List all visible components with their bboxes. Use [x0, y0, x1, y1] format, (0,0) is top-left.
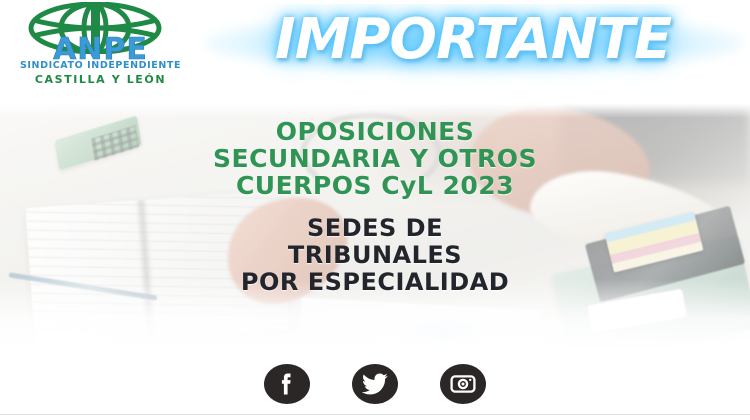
banner-text-block: OPOSICIONES SECUNDARIA Y OTROS CUERPOS C…	[0, 104, 750, 296]
banner-hero: OPOSICIONES SECUNDARIA Y OTROS CUERPOS C…	[0, 104, 750, 349]
anpe-logo[interactable]: ANPE SINDICATO INDEPENDIENTE CASTILLA Y …	[8, 2, 193, 94]
headline-green-line-2: SECUNDARIA Y OTROS	[0, 145, 750, 172]
social-link-facebook[interactable]	[264, 364, 310, 404]
headline-dark: SEDES DE TRIBUNALES POR ESPECIALIDAD	[0, 215, 750, 296]
poster-page: ANPE SINDICATO INDEPENDIENTE CASTILLA Y …	[0, 0, 750, 420]
headline-dark-line-3: POR ESPECIALIDAD	[0, 269, 750, 296]
title-text: IMPORTANTE	[196, 10, 750, 70]
instagram-camera-icon	[450, 373, 476, 395]
social-links	[0, 364, 750, 404]
logo-tagline: SINDICATO INDEPENDIENTE	[8, 61, 193, 71]
logo-region: CASTILLA Y LEÓN	[8, 74, 193, 85]
headline-dark-line-1: SEDES DE	[0, 215, 750, 242]
headline-dark-line-2: TRIBUNALES	[0, 242, 750, 269]
social-link-instagram[interactable]	[440, 364, 486, 404]
header-band: ANPE SINDICATO INDEPENDIENTE CASTILLA Y …	[0, 0, 750, 104]
footer-divider	[0, 414, 750, 415]
facebook-icon	[276, 372, 298, 396]
headline-green-line-1: OPOSICIONES	[0, 118, 750, 145]
page-title: IMPORTANTE	[196, 4, 750, 90]
headline-green: OPOSICIONES SECUNDARIA Y OTROS CUERPOS C…	[0, 118, 750, 199]
twitter-icon	[362, 373, 388, 395]
social-link-twitter[interactable]	[352, 364, 398, 404]
headline-green-line-3: CUERPOS CyL 2023	[0, 172, 750, 199]
